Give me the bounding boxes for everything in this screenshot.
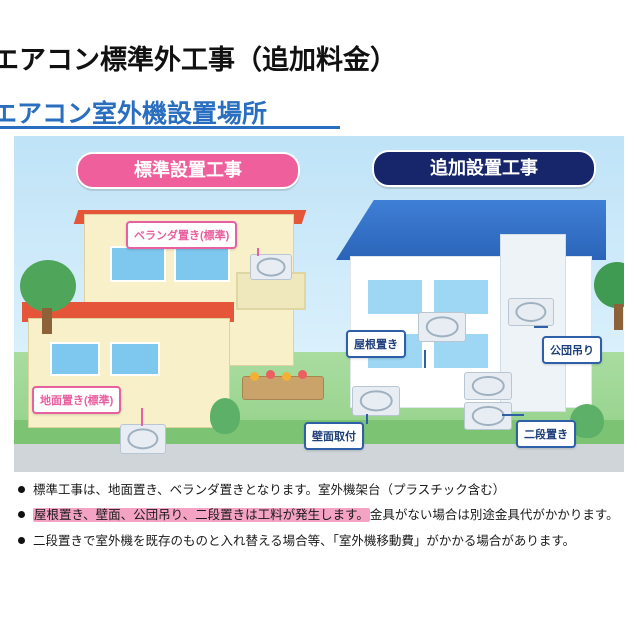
leader-roof (424, 350, 426, 368)
callout-two-stack: 二段置き (516, 420, 576, 448)
ac-unit-hanging (508, 298, 554, 326)
notes-list: 標準工事は、地面置き、ベランダ置きとなります。室外機架台（プラスチック含む） 屋… (12, 482, 626, 558)
right-window-2 (432, 278, 490, 316)
note-text: 二段置きで室外機を既存のものと入れ替える場合等、「室外機移動費」がかかる場合があ… (33, 533, 575, 549)
ac-unit-stack-top (464, 372, 512, 400)
ac-fan-icon (127, 428, 158, 449)
tree-left-canopy (20, 260, 76, 312)
section-title-underline (0, 126, 340, 129)
leader-ground (141, 408, 143, 426)
ac-fan-icon (426, 316, 459, 337)
leader-hang (534, 326, 548, 328)
note-plain: 金具がない場合は別途金具代がかかります。 (370, 508, 619, 522)
flower-icon (298, 370, 307, 379)
ac-fan-icon (515, 302, 546, 322)
ac-fan-icon (360, 390, 393, 411)
flower-icon (282, 372, 291, 381)
ac-fan-icon (472, 376, 505, 396)
leader-wall (366, 414, 368, 424)
bullet-icon (18, 511, 25, 518)
note-plain: 二段置きで室外機を既存のものと入れ替える場合等、「室外機移動費」がかかる場合があ… (33, 534, 575, 548)
flower-icon (250, 372, 259, 381)
right-window-1 (366, 278, 424, 316)
bullet-icon (18, 537, 25, 544)
note-item: 屋根置き、壁面、公団吊り、二段置きは工料が発生します。金具がない場合は別途金具代… (12, 507, 626, 523)
tree-left-trunk (42, 308, 52, 334)
left-window-2 (174, 246, 230, 282)
bullet-icon (18, 486, 25, 493)
banner-standard-install: 標準設置工事 (76, 152, 300, 189)
left-window-1 (110, 246, 166, 282)
tree-right-trunk (614, 304, 623, 330)
callout-ground: 地面置き(標準) (32, 386, 121, 414)
note-item: 二段置きで室外機を既存のものと入れ替える場合等、「室外機移動費」がかかる場合があ… (12, 533, 626, 549)
leader-twostack (502, 414, 524, 416)
ac-unit-stack-bottom (464, 402, 512, 430)
bush-1 (210, 398, 240, 434)
banner-extra-install: 追加設置工事 (372, 150, 596, 187)
ac-unit-wall (352, 386, 400, 416)
note-text: 標準工事は、地面置き、ベランダ置きとなります。室外機架台（プラスチック含む） (33, 482, 505, 498)
leader-veranda (257, 248, 259, 256)
note-text: 屋根置き、壁面、公団吊り、二段置きは工料が発生します。金具がない場合は別途金具代… (33, 507, 619, 523)
ac-fan-icon (257, 258, 286, 277)
ac-unit-roof (418, 312, 466, 342)
page-title: エアコン標準外工事（追加料金） (0, 38, 637, 77)
note-plain: 標準工事は、地面置き、ベランダ置きとなります。室外機架台（プラスチック含む） (33, 483, 505, 497)
section-title: エアコン室外機設置場所 (0, 94, 637, 130)
flower-icon (266, 370, 275, 379)
left-window-4 (110, 342, 160, 376)
note-highlight: 屋根置き、壁面、公団吊り、二段置きは工料が発生します。 (33, 508, 370, 522)
callout-wall: 壁面取付 (304, 422, 364, 450)
ac-unit-ground (120, 424, 166, 454)
installation-diagram: 標準設置工事 追加設置工事 ベランダ置き(標準) 地面置き(標準) 屋根置き 壁… (14, 136, 624, 472)
callout-roof: 屋根置き (346, 330, 406, 358)
left-window-3 (50, 342, 100, 376)
tree-right-canopy (594, 262, 624, 308)
callout-veranda: ベランダ置き(標準) (126, 221, 237, 249)
note-item: 標準工事は、地面置き、ベランダ置きとなります。室外機架台（プラスチック含む） (12, 482, 626, 498)
callout-hanging: 公団吊り (542, 336, 602, 364)
ac-fan-icon (472, 406, 505, 426)
ac-unit-veranda (250, 254, 292, 280)
